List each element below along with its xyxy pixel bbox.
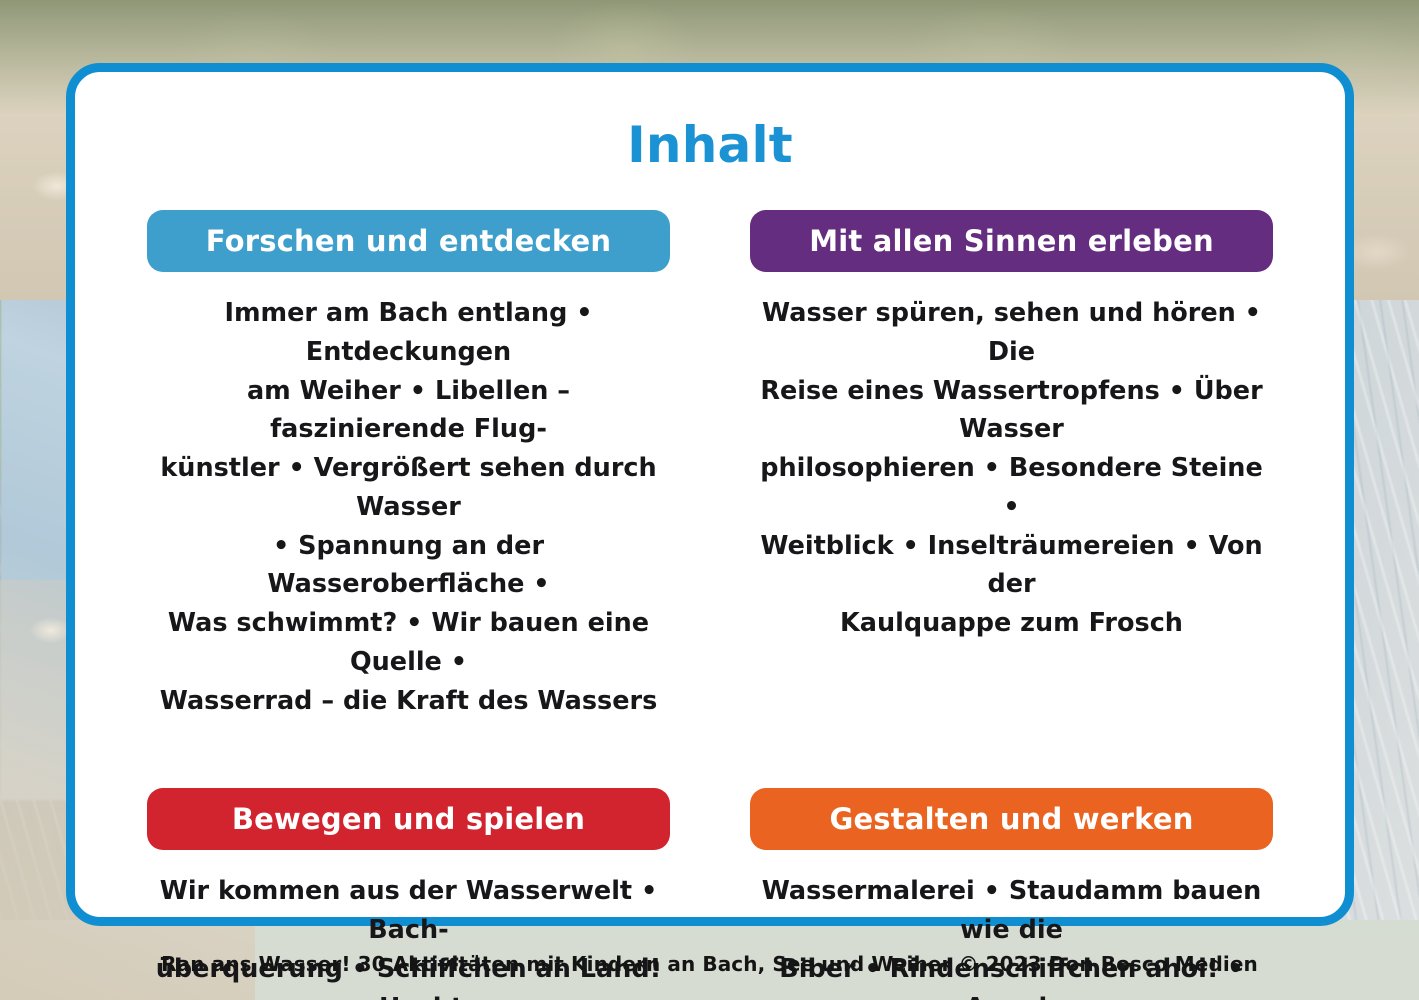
section-body-forschen-und-entdecken: Immer am Bach entlang • Entdeckungen am … (151, 294, 666, 720)
section-badge-gestalten-und-werken[interactable]: Gestalten und werken (750, 788, 1273, 850)
section-badge-mit-allen-sinnen-erleben[interactable]: Mit allen Sinnen erleben (750, 210, 1273, 272)
content-card: Inhalt Forschen und entdecken Immer am B… (66, 63, 1354, 926)
page-root: Inhalt Forschen und entdecken Immer am B… (0, 0, 1419, 1000)
section-forschen-und-entdecken: Forschen und entdecken Immer am Bach ent… (147, 210, 670, 720)
section-body-mit-allen-sinnen-erleben: Wasser spüren, sehen und hören • Die Rei… (754, 294, 1269, 643)
section-badge-forschen-und-entdecken[interactable]: Forschen und entdecken (147, 210, 670, 272)
section-body-bewegen-und-spielen: Wir kommen aus der Wasserwelt • Bach- üb… (151, 872, 666, 1000)
section-body-gestalten-und-werken: Wassermalerei • Staudamm bauen wie die B… (754, 872, 1269, 1000)
section-badge-bewegen-und-spielen[interactable]: Bewegen und spielen (147, 788, 670, 850)
sections-grid: Forschen und entdecken Immer am Bach ent… (75, 170, 1345, 1000)
section-mit-allen-sinnen-erleben: Mit allen Sinnen erleben Wasser spüren, … (750, 210, 1273, 720)
footer-caption: Ran ans Wasser! 30 Aktivitäten mit Kinde… (0, 952, 1419, 976)
page-title: Inhalt (75, 72, 1345, 170)
